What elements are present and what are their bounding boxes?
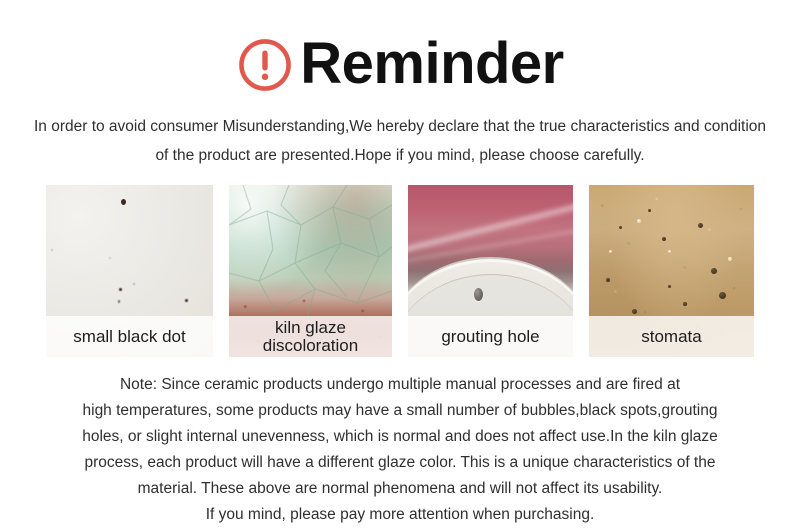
page-title: Reminder: [300, 35, 564, 93]
intro-line-1: In order to avoid consumer Misunderstand…: [28, 112, 772, 141]
grouting-hole-mark: [474, 288, 483, 301]
card-caption-small-black-dot: small black dot: [46, 316, 213, 357]
alert-exclamation-circle-icon: [236, 36, 294, 94]
note-line-6: If you mind, please pay more attention w…: [20, 502, 780, 528]
intro-paragraph: In order to avoid consumer Misunderstand…: [28, 112, 772, 170]
caption-line-1: kiln glaze: [263, 319, 358, 337]
caption-line-2: discoloration: [263, 337, 358, 355]
card-small-black-dot: small black dot: [46, 185, 213, 357]
note-line-5: material. These above are normal phenome…: [20, 476, 780, 502]
card-caption-kiln-glaze-discoloration: kiln glaze discoloration: [229, 316, 392, 357]
footer-note: Note: Since ceramic products undergo mul…: [20, 372, 780, 528]
note-line-4: process, each product will have a differ…: [20, 450, 780, 476]
card-grouting-hole: grouting hole: [408, 185, 573, 357]
note-line-1: Note: Since ceramic products undergo mul…: [20, 372, 780, 398]
intro-line-2: of the product are presented.Hope if you…: [28, 141, 772, 170]
defect-example-cards: small black dot: [46, 185, 754, 357]
card-kiln-glaze-discoloration: kiln glaze discoloration: [229, 185, 392, 357]
note-line-3: holes, or slight internal unevenness, wh…: [20, 424, 780, 450]
card-stomata: stomata: [589, 185, 754, 357]
reminder-page: Reminder In order to avoid consumer Misu…: [0, 0, 800, 524]
page-title-row: Reminder: [0, 28, 800, 100]
note-line-2: high temperatures, some products may hav…: [20, 398, 780, 424]
card-caption-grouting-hole: grouting hole: [408, 316, 573, 357]
card-caption-stomata: stomata: [589, 316, 754, 357]
